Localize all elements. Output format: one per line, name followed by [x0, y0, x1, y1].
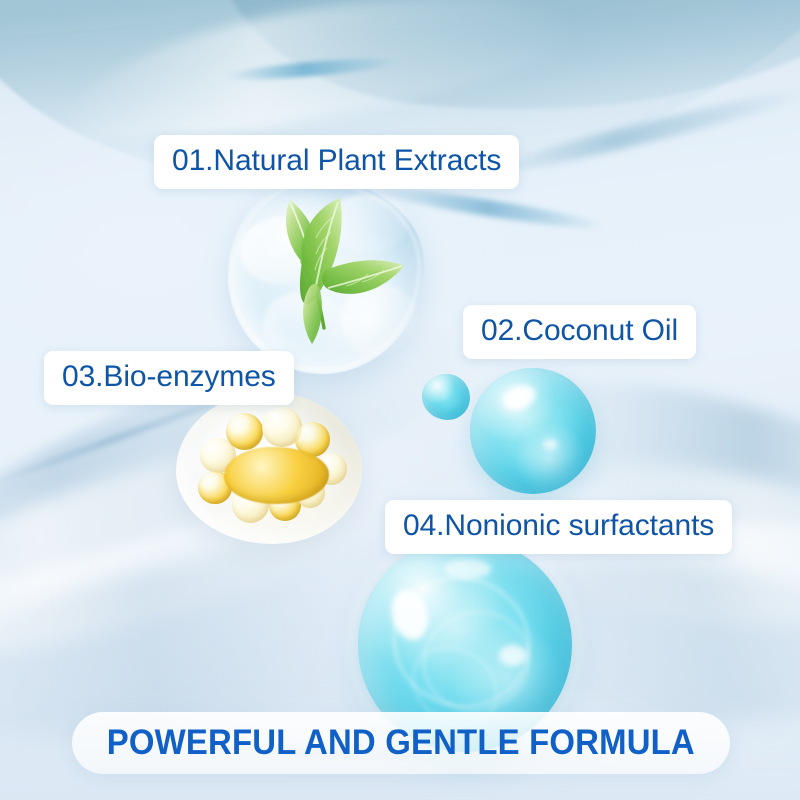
gel-droplet-small: [422, 374, 470, 420]
sphere-highlight: [444, 559, 491, 578]
ingredient-label-04-text: 04.Nonionic surfactants: [403, 511, 714, 541]
product-ingredient-poster: 01.Natural Plant Extracts 02.Coconut Oil…: [0, 0, 800, 800]
ingredient-label-01[interactable]: 01.Natural Plant Extracts: [154, 135, 519, 189]
sphere-highlight: [543, 439, 558, 450]
enzyme-bead-cluster-core: [224, 447, 328, 505]
ingredient-label-03-text: 03.Bio-enzymes: [62, 362, 276, 392]
headline-banner: POWERFUL AND GENTLE FORMULA: [72, 712, 730, 774]
ingredient-visual-bio-enzymes: [176, 392, 362, 544]
headline-text: POWERFUL AND GENTLE FORMULA: [107, 723, 695, 763]
ingredient-label-03[interactable]: 03.Bio-enzymes: [44, 351, 294, 405]
ingredient-label-04[interactable]: 04.Nonionic surfactants: [385, 500, 732, 554]
ingredient-visual-natural-plant-extracts: [228, 178, 424, 374]
green-leaves-icon: [228, 178, 424, 374]
ingredient-label-01-text: 01.Natural Plant Extracts: [172, 146, 501, 176]
ingredient-visual-coconut-oil: [470, 368, 596, 494]
enzyme-bead: [226, 413, 263, 449]
ingredient-label-02[interactable]: 02.Coconut Oil: [463, 305, 696, 359]
gel-sphere-coconut: [470, 368, 596, 494]
ingredient-label-02-text: 02.Coconut Oil: [481, 316, 678, 346]
